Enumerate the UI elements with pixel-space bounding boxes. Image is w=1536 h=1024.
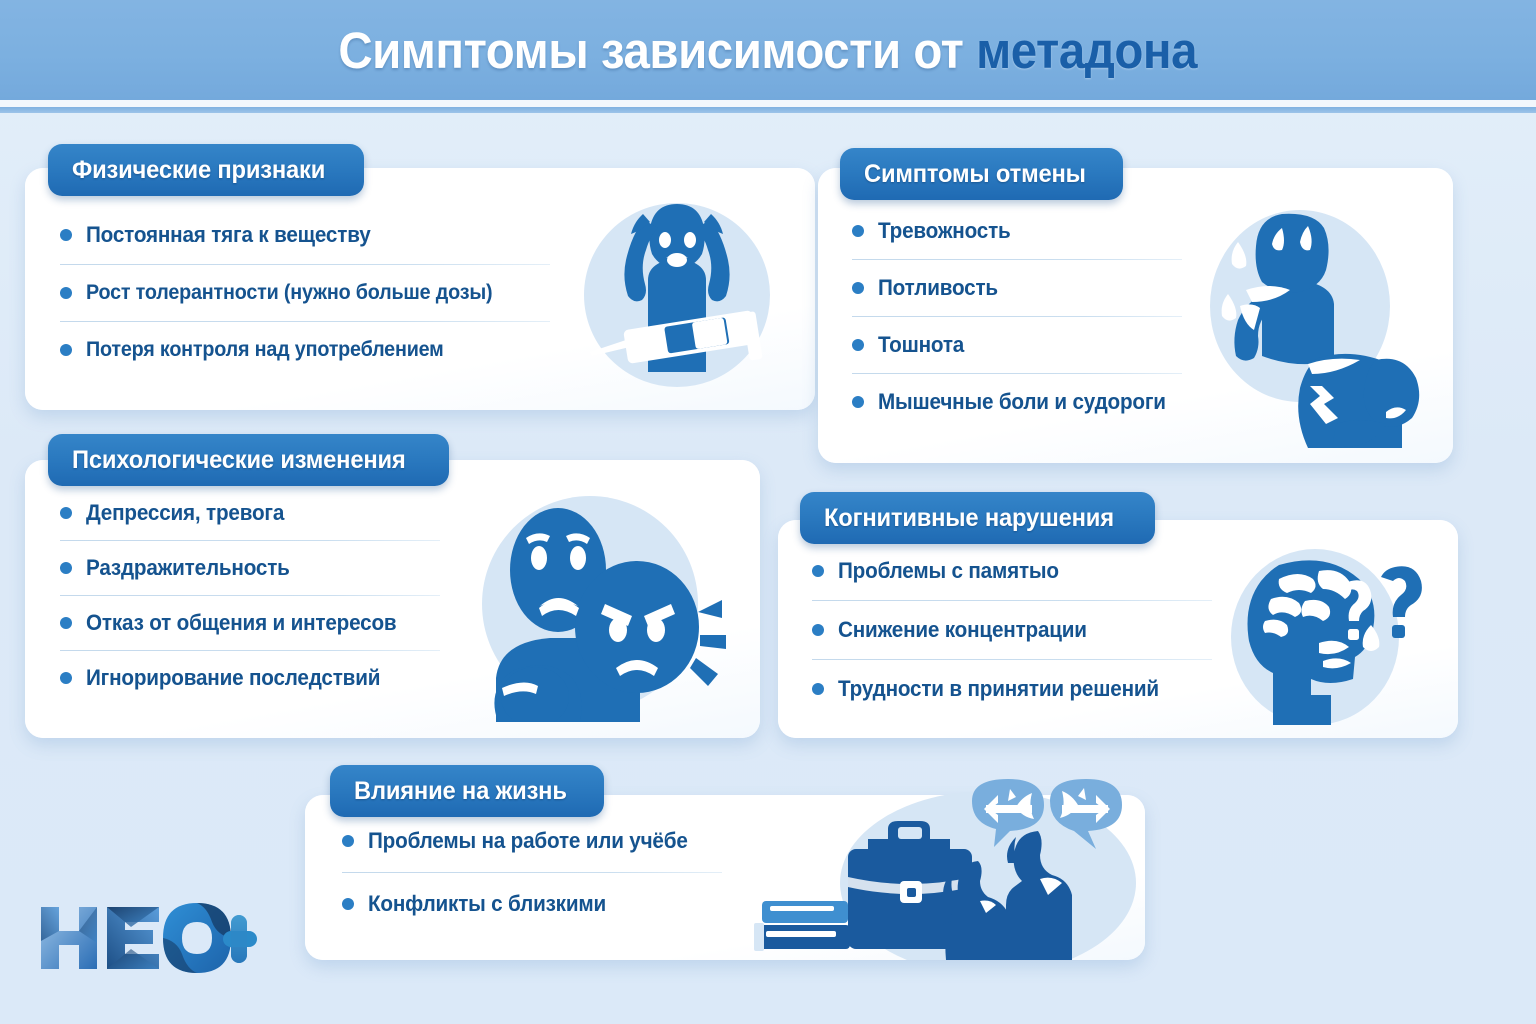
header-divider-white xyxy=(0,100,1536,107)
briefcase-books-arguing-people-icon xyxy=(740,775,1140,960)
page-header: Симптомы зависимости от метадона xyxy=(0,0,1536,100)
neo-plus-logo xyxy=(35,895,260,980)
list-divider xyxy=(812,600,1212,601)
list-item[interactable]: Конфликты с близкими xyxy=(342,891,732,917)
list-divider xyxy=(60,264,550,265)
card-title-psychological-changes: Психологические изменения xyxy=(48,434,449,486)
head-with-brain-question-marks-icon xyxy=(1215,545,1430,730)
card-title-physical-signs-label: Физические признаки xyxy=(72,156,325,185)
page-title-accent: метадона xyxy=(976,22,1197,79)
bullet-icon xyxy=(852,225,864,237)
list-divider xyxy=(60,540,440,541)
list-divider xyxy=(342,872,722,873)
bullet-icon xyxy=(812,624,824,636)
list-item-label: Игнорирование последствий xyxy=(86,665,380,691)
bullet-icon xyxy=(852,282,864,294)
list-item[interactable]: Потливость xyxy=(852,275,1197,301)
page-title-main: Симптомы зависимости от xyxy=(339,22,977,79)
bullet-icon xyxy=(60,229,72,241)
bullet-icon xyxy=(852,396,864,408)
list-item[interactable]: Игнорирование последствий xyxy=(60,665,450,691)
card-title-withdrawal-symptoms: Симптомы отмены xyxy=(840,148,1123,200)
list-divider xyxy=(852,316,1182,317)
card-physical-signs-items: Постоянная тяга к веществу Рост толерант… xyxy=(60,222,560,362)
bullet-icon xyxy=(60,617,72,629)
bullet-icon xyxy=(60,344,72,356)
list-item[interactable]: Депрессия, тревога xyxy=(60,500,450,526)
list-item[interactable]: Тошнота xyxy=(852,332,1197,358)
list-item-label: Проблемы на работе или учёбе xyxy=(368,828,688,854)
card-title-life-impact: Влияние на жизнь xyxy=(330,765,604,817)
bullet-icon xyxy=(60,287,72,299)
list-item-label: Мышечные боли и судороги xyxy=(878,389,1166,415)
list-divider xyxy=(852,373,1182,374)
card-title-physical-signs: Физические признаки xyxy=(48,144,364,196)
header-divider-blue xyxy=(0,107,1536,113)
list-item-label: Отказ от общения и интересов xyxy=(86,610,396,636)
list-item[interactable]: Потеря контроля над употреблением xyxy=(60,338,560,362)
bullet-icon xyxy=(342,835,354,847)
list-item[interactable]: Мышечные боли и судороги xyxy=(852,389,1197,415)
card-title-cognitive-impairment: Когнитивные нарушения xyxy=(800,492,1155,544)
list-item-label: Потливость xyxy=(878,275,998,301)
list-item-label: Потеря контроля над употреблением xyxy=(86,338,444,362)
list-item-label: Снижение концентрации xyxy=(838,617,1087,643)
page-title: Симптомы зависимости от метадона xyxy=(339,25,1198,76)
list-item[interactable]: Тревожность xyxy=(852,218,1197,244)
sweating-person-with-cramps-icon xyxy=(1190,198,1425,448)
list-item[interactable]: Раздражительность xyxy=(60,555,450,581)
list-item-label: Рост толерантности (нужно больше дозы) xyxy=(86,281,492,305)
list-item[interactable]: Постоянная тяга к веществу xyxy=(60,222,560,248)
list-divider xyxy=(812,659,1212,660)
list-item[interactable]: Снижение концентрации xyxy=(812,617,1212,643)
stressed-person-with-syringe-icon xyxy=(570,192,785,392)
list-item-label: Тревожность xyxy=(878,218,1011,244)
list-item-label: Тошнота xyxy=(878,332,964,358)
bullet-icon xyxy=(60,507,72,519)
card-life-impact-items: Проблемы на работе или учёбе Конфликты с… xyxy=(342,828,732,917)
card-cognitive-impairment-items: Проблемы с памятыо Снижение концентрации… xyxy=(812,558,1212,702)
list-item-label: Трудности в принятии решений xyxy=(838,676,1159,702)
bullet-icon xyxy=(852,339,864,351)
list-item-label: Проблемы с памятыо xyxy=(838,558,1059,584)
list-divider xyxy=(60,650,440,651)
list-item[interactable]: Отказ от общения и интересов xyxy=(60,610,450,636)
bullet-icon xyxy=(60,562,72,574)
list-divider xyxy=(60,595,440,596)
card-withdrawal-symptoms-items: Тревожность Потливость Тошнота Мышечные … xyxy=(852,218,1197,415)
card-title-withdrawal-symptoms-label: Симптомы отмены xyxy=(864,160,1086,189)
card-title-cognitive-impairment-label: Когнитивные нарушения xyxy=(824,504,1114,533)
bullet-icon xyxy=(60,672,72,684)
card-title-psychological-changes-label: Психологические изменения xyxy=(72,446,406,475)
list-divider xyxy=(852,259,1182,260)
bullet-icon xyxy=(812,683,824,695)
list-item-label: Постоянная тяга к веществу xyxy=(86,222,371,248)
sad-person-with-angry-face-icon xyxy=(440,492,730,722)
bullet-icon xyxy=(342,898,354,910)
list-item-label: Депрессия, тревога xyxy=(86,500,284,526)
list-divider xyxy=(60,321,550,322)
bullet-icon xyxy=(812,565,824,577)
list-item[interactable]: Рост толерантности (нужно больше дозы) xyxy=(60,281,560,305)
list-item-label: Раздражительность xyxy=(86,555,290,581)
list-item[interactable]: Проблемы с памятыо xyxy=(812,558,1212,584)
list-item[interactable]: Трудности в принятии решений xyxy=(812,676,1212,702)
card-psychological-changes-items: Депрессия, тревога Раздражительность Отк… xyxy=(60,500,450,691)
list-item[interactable]: Проблемы на работе или учёбе xyxy=(342,828,732,854)
list-item-label: Конфликты с близкими xyxy=(368,891,606,917)
card-title-life-impact-label: Влияние на жизнь xyxy=(354,777,567,806)
